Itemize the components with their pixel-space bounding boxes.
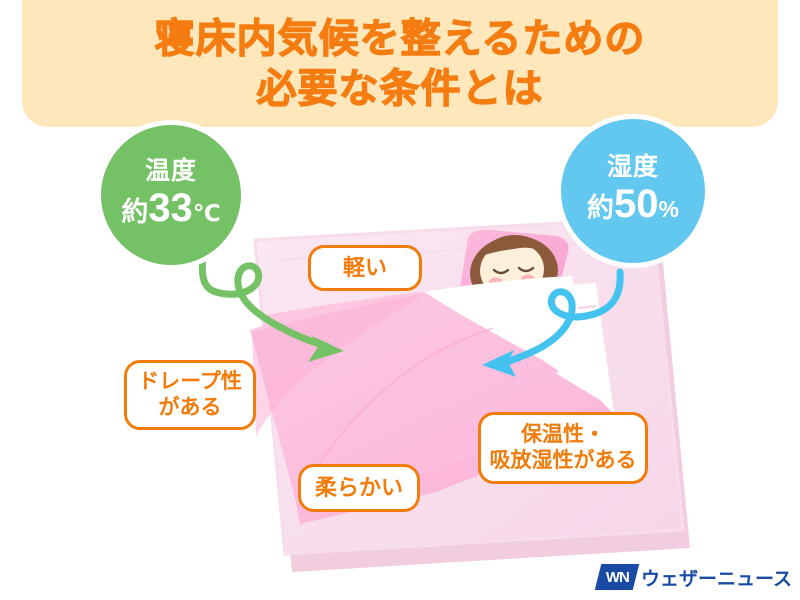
- humidity-value-number: 50: [614, 182, 659, 226]
- humidity-value-unit: %: [659, 196, 679, 222]
- callout-warmth[interactable]: 保温性・ 吸放湿性がある: [478, 412, 648, 484]
- temperature-value-unit: ℃: [193, 200, 221, 226]
- weathernews-logo[interactable]: WN ウェザーニュース: [598, 562, 792, 592]
- humidity-value-prefix: 約: [587, 193, 614, 223]
- humidity-arrow-path: [500, 272, 620, 364]
- wn-logo-mark-text: WN: [605, 569, 628, 586]
- humidity-bubble-label: 湿度: [607, 152, 659, 182]
- infographic-canvas: 寝床内気候を整えるための 必要な条件とは 温度 約33℃ 湿度 約50% 軽い …: [0, 0, 800, 600]
- humidity-bubble[interactable]: 湿度 約50%: [556, 114, 710, 268]
- callout-light-line1: 軽い: [343, 255, 387, 281]
- callout-light[interactable]: 軽い: [308, 245, 422, 291]
- temperature-bubble[interactable]: 温度 約33℃: [96, 120, 246, 270]
- wn-logo-icon: WN: [595, 564, 639, 590]
- temperature-bubble-value: 約33℃: [121, 186, 220, 235]
- temperature-bubble-label: 温度: [145, 156, 197, 186]
- temperature-value-prefix: 約: [121, 197, 148, 227]
- temperature-value-number: 33: [148, 186, 193, 230]
- callout-drape-line2: がある: [159, 395, 222, 421]
- callout-drape-line1: ドレープ性: [138, 369, 242, 395]
- callout-soft[interactable]: 柔らかい: [298, 464, 420, 512]
- callout-warmth-line1: 保温性・: [521, 422, 605, 448]
- brand-name: ウェザーニュース: [641, 564, 792, 591]
- callout-warmth-line2: 吸放湿性がある: [490, 448, 637, 474]
- callout-drape[interactable]: ドレープ性 がある: [124, 360, 256, 430]
- humidity-bubble-value: 約50%: [587, 182, 679, 231]
- callout-soft-line1: 柔らかい: [315, 475, 403, 501]
